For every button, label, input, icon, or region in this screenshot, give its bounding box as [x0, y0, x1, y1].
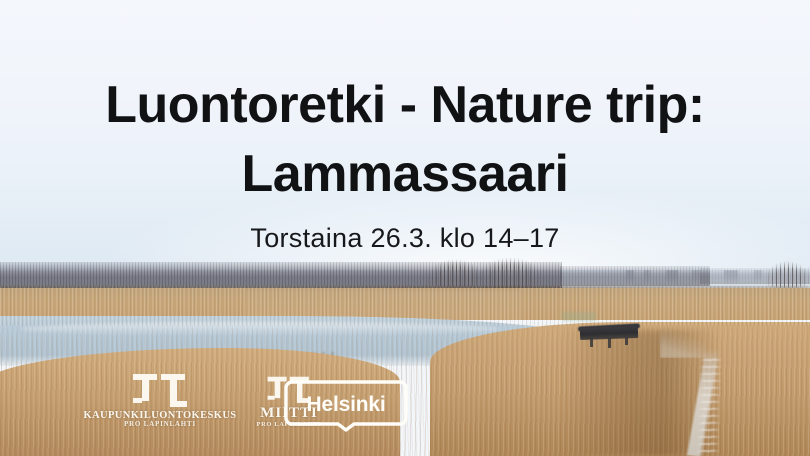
tree-band-right	[560, 266, 710, 286]
logo-kaupunkiluontokeskus-sub: PRO LAPINLAHTI	[80, 421, 240, 428]
pier-leg-1	[590, 338, 593, 347]
pier-leg-3	[625, 337, 628, 345]
logo-kaupunkiluontokeskus[interactable]: KAUPUNKILUONTOKESKUS PRO LAPINLAHTI	[80, 374, 240, 428]
jl-monogram-icon	[131, 374, 189, 410]
logo-helsinki[interactable]: Helsinki	[282, 378, 410, 434]
tree-clump-right	[760, 258, 810, 288]
reed-tuft-green	[562, 312, 596, 321]
poster-canvas: Luontoretki - Nature trip: Lammassaari T…	[0, 0, 810, 456]
poster-title-line-1: Luontoretki - Nature trip:	[0, 76, 810, 134]
boardwalk-planks	[684, 354, 728, 456]
tree-clump-b	[470, 254, 550, 288]
poster-title-line-2: Lammassaari	[0, 145, 810, 203]
poster-subtitle-datetime: Torstaina 26.3. klo 14–17	[0, 222, 810, 254]
pier-leg-2	[608, 338, 611, 348]
logo-helsinki-wordmark: Helsinki	[282, 378, 410, 434]
